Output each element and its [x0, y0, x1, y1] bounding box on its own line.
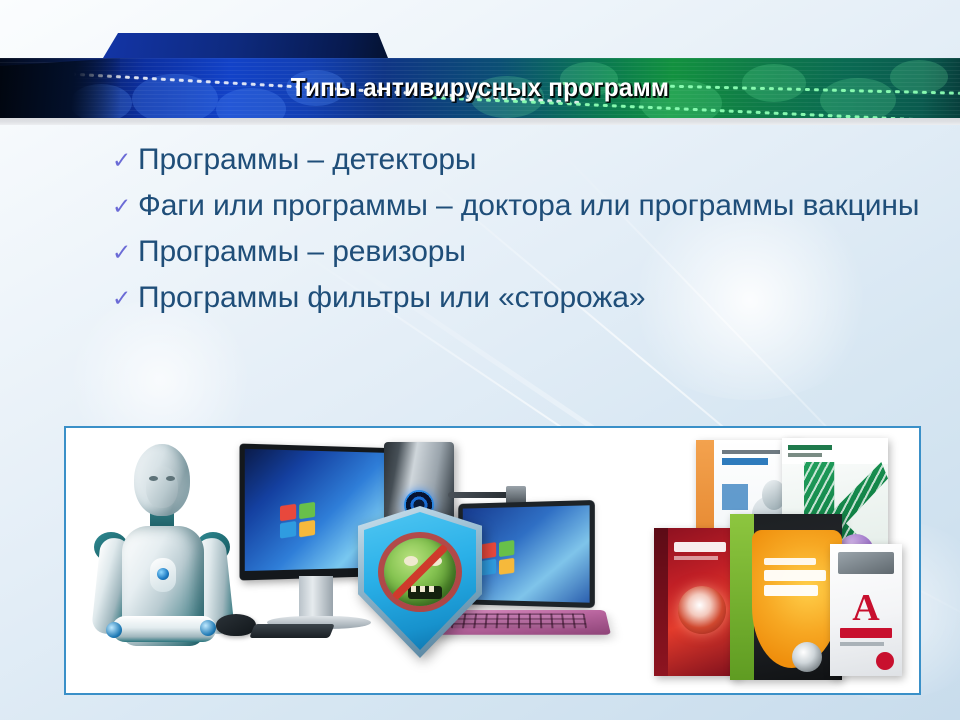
drweb-spider-graphic: [678, 586, 726, 634]
slide: Типы антивирусных программ ✓ Программы –…: [0, 0, 960, 720]
robot-eye: [149, 476, 158, 481]
windows-quadrant: [499, 558, 514, 575]
list-item: ✓ Программы – детекторы: [112, 140, 932, 180]
list-item-label: Фаги или программы – доктора или програм…: [138, 186, 932, 226]
windows-quadrant: [280, 504, 296, 522]
virus-no-entry-icon: [378, 532, 462, 612]
illustration-canvas: A: [66, 428, 919, 693]
windows-quadrant: [280, 521, 296, 539]
windows-quadrant: [481, 542, 496, 559]
avast-ball-graphic: [792, 642, 822, 672]
box-avast-internet-security: [730, 514, 842, 680]
box-text-line: [722, 450, 780, 454]
page-title: Типы антивирусных программ: [29, 72, 931, 103]
box-text-line: [764, 585, 818, 596]
robot-joint: [200, 620, 216, 636]
windows-logo-icon: [481, 541, 513, 573]
checkmark-icon: ✓: [112, 278, 138, 318]
monitor-stand: [299, 576, 333, 620]
illustration-frame: A: [64, 426, 921, 695]
antivirus-product-boxes: A: [654, 436, 904, 686]
checkmark-icon: ✓: [112, 232, 138, 272]
robot-head: [134, 444, 190, 516]
box-logo: [840, 628, 892, 638]
avira-a-logo: A: [848, 588, 884, 628]
windows-logo-icon: [280, 503, 318, 540]
checkmark-icon: ✓: [112, 140, 138, 180]
box-text-line: [788, 453, 822, 457]
box-text-line: [840, 642, 884, 646]
box-avira: A: [830, 544, 902, 676]
list-item: ✓ Фаги или программы – доктора или прогр…: [112, 186, 932, 226]
banner-shadow-strip: [0, 118, 960, 125]
robot-core-light: [157, 568, 169, 580]
box-spine: [654, 528, 668, 676]
eset-robot-mascot-icon: [88, 440, 238, 690]
list-item-label: Программы фильтры или «сторожа»: [138, 278, 932, 318]
keyboard-icon: [249, 624, 335, 638]
box-text-line: [674, 556, 718, 560]
box-text-line: [788, 445, 832, 450]
robot-joint: [106, 622, 122, 638]
list-item-label: Программы – ревизоры: [138, 232, 932, 272]
checkmark-icon: ✓: [112, 186, 138, 226]
robot-eye: [166, 476, 175, 481]
box-text-line: [722, 458, 768, 465]
list-item: ✓ Программы фильтры или «сторожа»: [112, 278, 932, 318]
box-graphic: [722, 484, 748, 510]
box-text-line: [764, 558, 816, 565]
box-drweb: [654, 528, 740, 676]
robot-face: [146, 466, 178, 508]
windows-quadrant: [499, 540, 514, 557]
list-item: ✓ Программы – ревизоры: [112, 232, 932, 272]
list-item-label: Программы – детекторы: [138, 140, 932, 180]
windows-quadrant: [299, 520, 315, 537]
windows-quadrant: [299, 502, 315, 519]
antivirus-shield-icon: [358, 506, 482, 658]
box-spine: [730, 514, 754, 680]
box-header-strip: [838, 552, 894, 574]
box-header-strip: [782, 438, 888, 464]
box-badge: [876, 652, 894, 670]
box-logo: [674, 542, 726, 552]
windows-quadrant: [481, 559, 496, 576]
bullet-list: ✓ Программы – детекторы ✓ Фаги или прогр…: [112, 140, 932, 324]
box-text-line: [764, 570, 826, 581]
